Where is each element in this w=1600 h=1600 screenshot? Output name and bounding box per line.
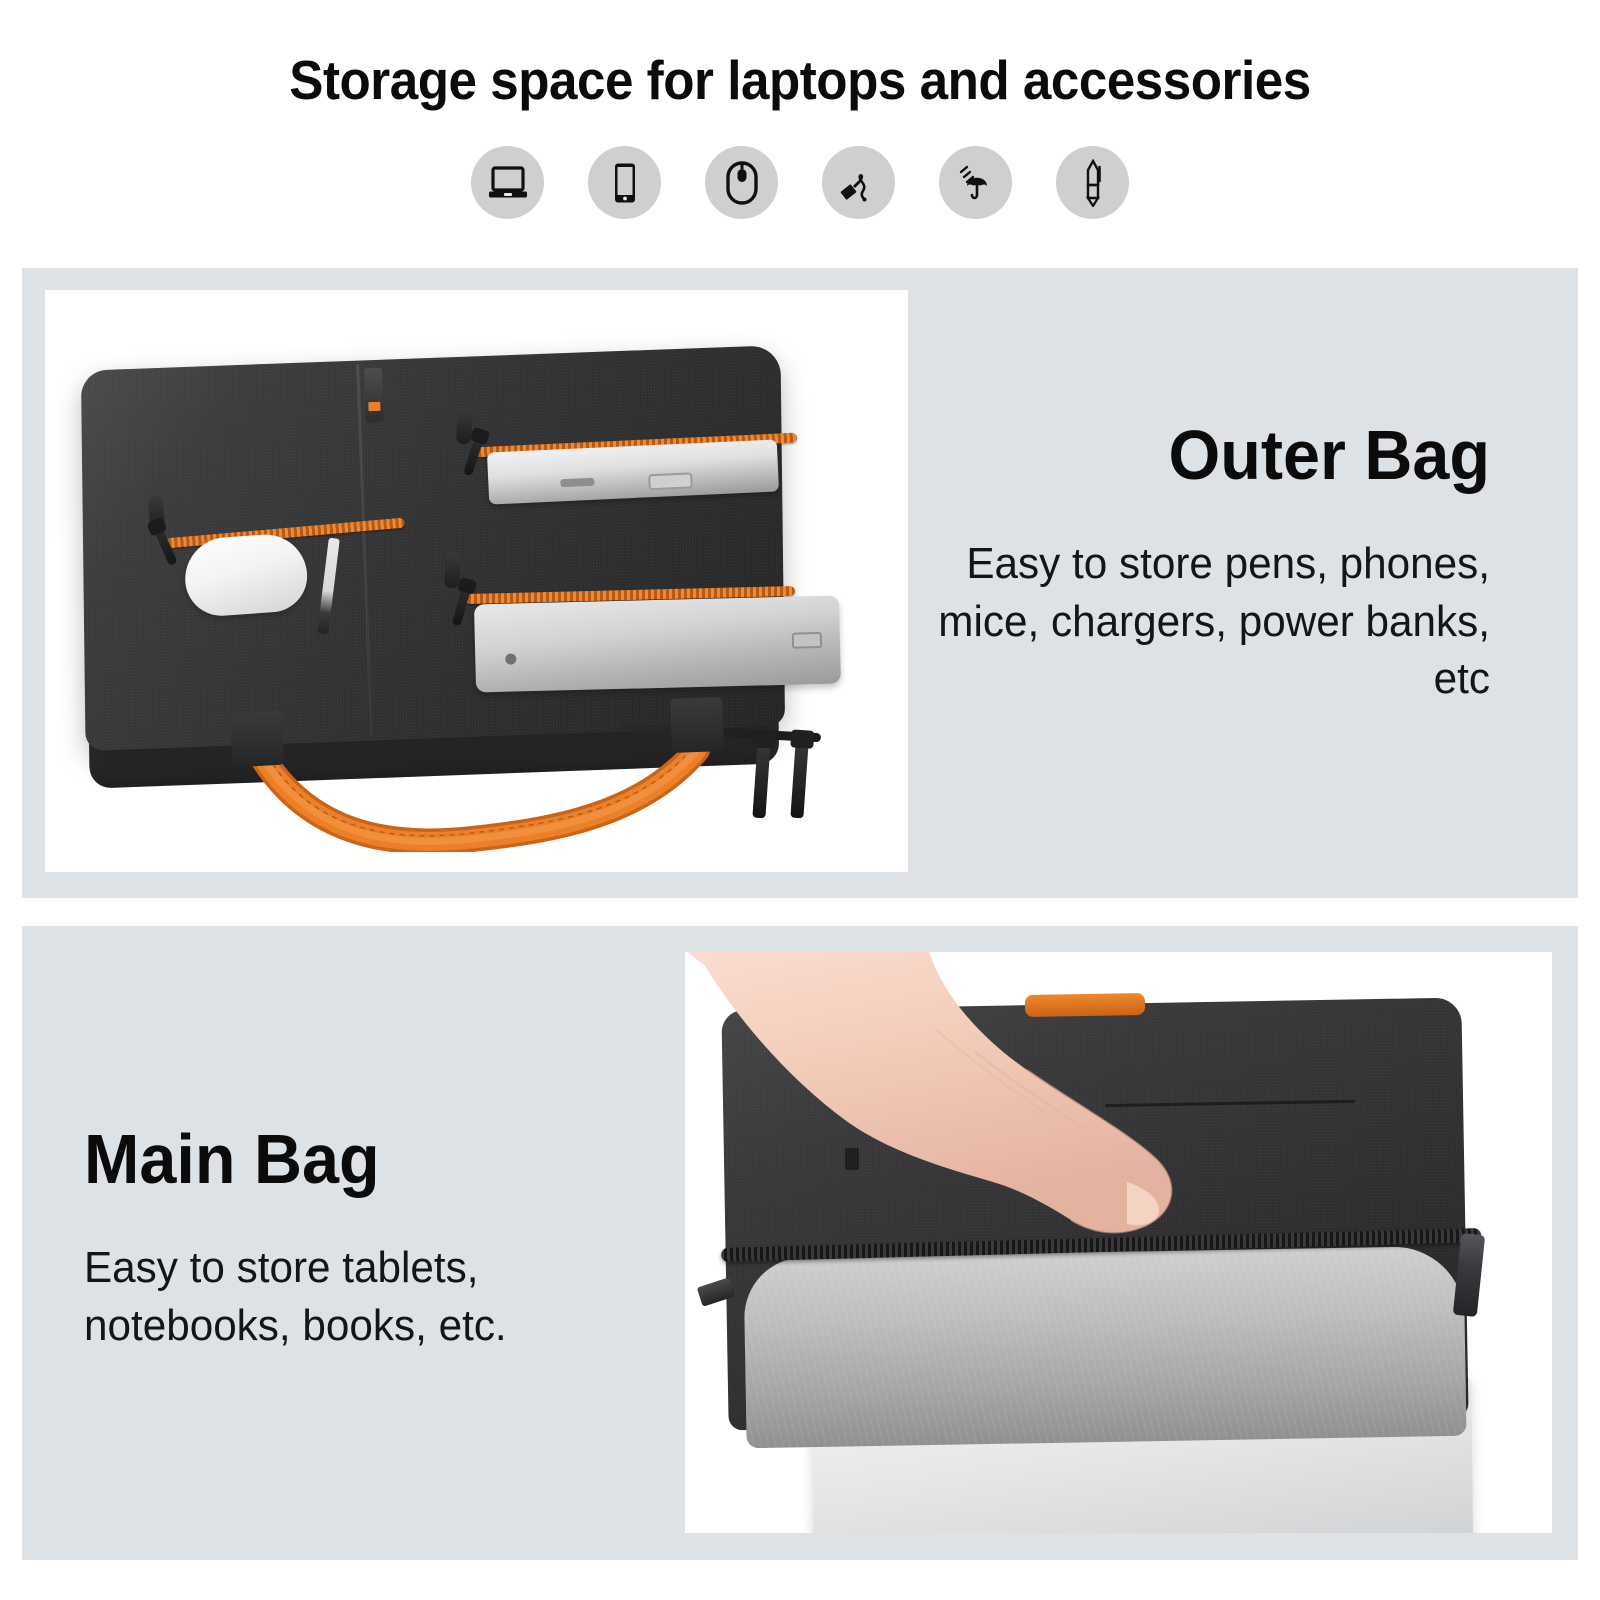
phone-icon: [588, 146, 661, 219]
carry-handle: [245, 742, 715, 852]
main-bag-heading: Main Bag: [84, 1124, 616, 1195]
laptop-icon: [471, 146, 544, 219]
outer-bag-description: Easy to store pens, phones, mice, charge…: [914, 535, 1490, 707]
hand: [685, 952, 1435, 1404]
main-bag-photo: [685, 952, 1552, 1533]
main-bag-description: Easy to store tablets, notebooks, books,…: [84, 1239, 622, 1353]
main-bag-copy: Main Bag Easy to store tablets, notebook…: [84, 1124, 644, 1354]
tablet-device: [474, 596, 841, 693]
handle-loop: [230, 711, 285, 768]
pen-icon: [1056, 146, 1129, 219]
outer-bag-photo: [45, 290, 908, 872]
main-zipper-pull: [790, 742, 808, 819]
mouse-icon: [705, 146, 778, 219]
outer-bag-heading: Outer Bag: [920, 420, 1490, 491]
charger-icon: [822, 146, 895, 219]
feature-icon-row: [0, 146, 1600, 219]
bag-body: [81, 345, 785, 751]
handle-loop: [670, 697, 724, 753]
brand-tag: [364, 368, 384, 423]
mouse-device: [182, 532, 309, 618]
outer-bag-copy: Outer Bag Easy to store pens, phones, mi…: [890, 420, 1490, 707]
panel-outer-bag: Outer Bag Easy to store pens, phones, mi…: [22, 268, 1578, 898]
page-title: Storage space for laptops and accessorie…: [56, 48, 1544, 112]
umbrella-icon: [939, 146, 1012, 219]
panel-main-bag: Main Bag Easy to store tablets, notebook…: [22, 926, 1578, 1560]
